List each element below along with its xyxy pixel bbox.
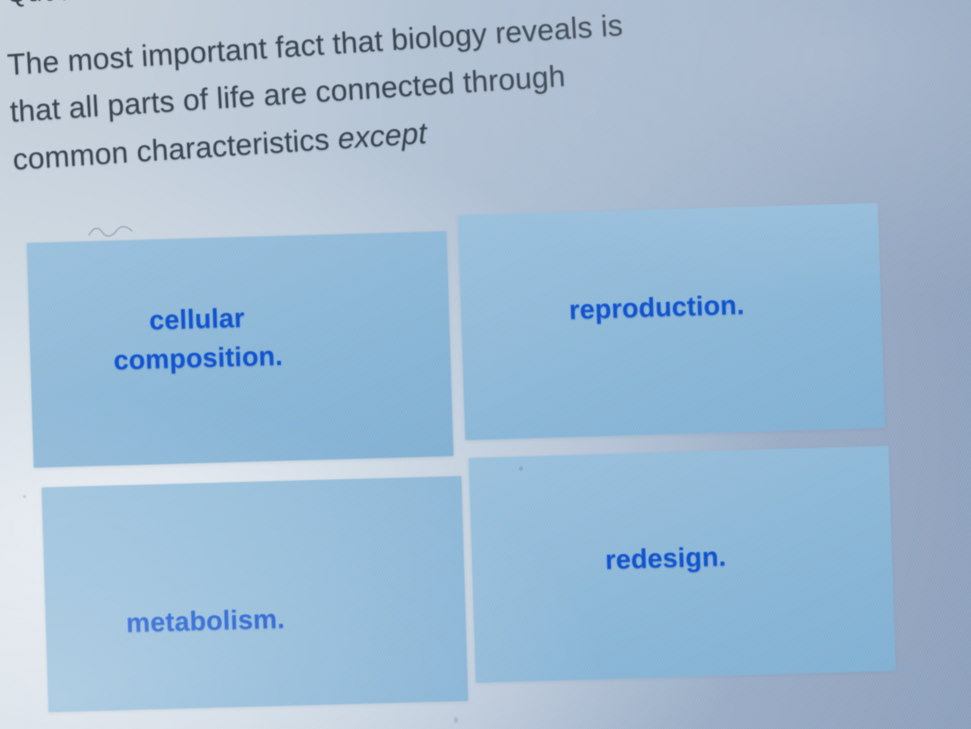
cut-off-header-line: Question 1 of 10 — Quick Check	[5, 0, 436, 12]
answer-option-c[interactable]: metabolism.	[42, 476, 468, 712]
answer-option-c-label: metabolism.	[126, 600, 286, 643]
answer-option-a[interactable]: cellularcomposition.	[27, 231, 453, 468]
answer-option-d[interactable]: redesign.	[468, 446, 895, 683]
quiz-screen: Question 1 of 10 — Quick Check The most …	[0, 0, 971, 729]
answer-option-a-label: cellularcomposition.	[112, 298, 284, 379]
answer-option-b[interactable]: reproduction.	[457, 203, 884, 440]
answer-options-grid: cellularcomposition. reproduction. metab…	[22, 210, 893, 707]
answer-option-b-label: reproduction.	[568, 286, 745, 330]
screen-speck-1	[23, 495, 26, 498]
cut-off-header-text: Question 1 of 10 — Quick Check	[5, 0, 436, 9]
question-stem: The most important fact that biology rev…	[6, 0, 852, 184]
screen-speck-3	[454, 717, 458, 723]
question-emphasis-except: except	[337, 117, 428, 156]
answer-option-d-label: redesign.	[604, 538, 726, 580]
